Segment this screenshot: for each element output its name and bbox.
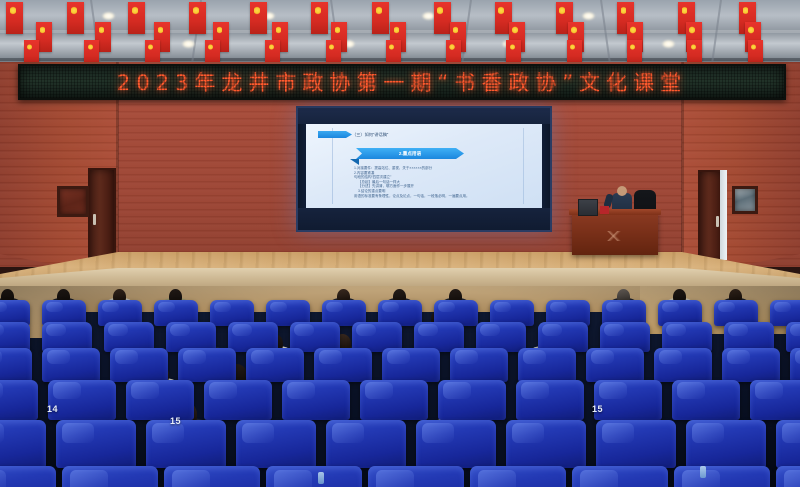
hanging-flag bbox=[372, 2, 389, 34]
audience-seat[interactable] bbox=[722, 348, 780, 382]
audience-seat[interactable] bbox=[146, 420, 226, 468]
ceiling-downlight-icon bbox=[182, 40, 195, 48]
audience-seat[interactable] bbox=[266, 466, 362, 487]
audience-seat[interactable] bbox=[314, 348, 372, 382]
water-bottle bbox=[700, 466, 706, 478]
door-handle-icon bbox=[716, 216, 719, 227]
audience-seat[interactable] bbox=[368, 466, 464, 487]
laptop-icon bbox=[578, 199, 598, 216]
audience-seat[interactable] bbox=[0, 466, 56, 487]
audience-seat[interactable] bbox=[750, 380, 800, 420]
audience-seat[interactable] bbox=[572, 466, 668, 487]
screen-bottom-bezel bbox=[298, 208, 550, 230]
ceiling-downlight-icon bbox=[582, 12, 595, 20]
wall-panel-left bbox=[57, 186, 89, 217]
hanging-flag bbox=[311, 2, 328, 34]
projection-screen: （三）如何“讲话稿” 2.重点用语 1.对接要件：提高站位、重视，关于×××××… bbox=[296, 106, 552, 232]
seat-row-number: 15 bbox=[170, 416, 181, 426]
audience-seat[interactable] bbox=[56, 420, 136, 468]
audience-seat[interactable] bbox=[674, 466, 770, 487]
audience-seat[interactable] bbox=[470, 466, 566, 487]
audience-seat[interactable] bbox=[326, 420, 406, 468]
audience-seat[interactable] bbox=[594, 380, 662, 420]
audience-seat[interactable] bbox=[450, 348, 508, 382]
door-light-gap bbox=[720, 170, 727, 260]
audience-seat[interactable] bbox=[790, 348, 800, 382]
audience-seat[interactable] bbox=[506, 420, 586, 468]
slide-header-arrow-icon bbox=[318, 131, 352, 138]
hanging-flag bbox=[434, 2, 451, 34]
audience-seat[interactable] bbox=[0, 348, 32, 382]
audience-seat[interactable] bbox=[516, 380, 584, 420]
wall-panel-right bbox=[732, 186, 758, 214]
audience-seat[interactable] bbox=[246, 348, 304, 382]
slide-banner-tail bbox=[350, 159, 359, 165]
audience-seat[interactable] bbox=[586, 348, 644, 382]
audience-seat[interactable] bbox=[126, 380, 194, 420]
door-handle-icon bbox=[93, 214, 96, 225]
slide-text-line: 用语的标准要有条理性，论点及论点，一句话，一段落必明，一遍要点用。 bbox=[354, 194, 516, 199]
stage-door-left[interactable] bbox=[88, 168, 116, 264]
slide-section-banner: 2.重点用语 bbox=[356, 148, 464, 159]
audience-seat[interactable] bbox=[438, 380, 506, 420]
slide-header-text: （三）如何“讲话稿” bbox=[352, 132, 388, 138]
audience-seat[interactable] bbox=[204, 380, 272, 420]
audience-seat[interactable] bbox=[518, 348, 576, 382]
ceiling-downlight-icon bbox=[662, 40, 675, 48]
screen-top-bezel bbox=[298, 108, 550, 124]
audience-seating-area: 141515 bbox=[0, 286, 800, 487]
auditorium-scene: （三）如何“讲话稿” 2.重点用语 1.对接要件：提高站位、重视，关于×××××… bbox=[0, 0, 800, 487]
audience-seat[interactable] bbox=[416, 420, 496, 468]
audience-seat[interactable] bbox=[0, 420, 46, 468]
audience-seat[interactable] bbox=[382, 348, 440, 382]
desk-red-item bbox=[600, 206, 609, 214]
slide-rule-right bbox=[523, 128, 524, 204]
led-banner: 2023年龙井市政协第一期“书香政协”文化课堂 bbox=[18, 64, 786, 100]
audience-seat[interactable] bbox=[596, 420, 676, 468]
seat-row-number: 15 bbox=[592, 404, 603, 414]
water-bottle bbox=[318, 472, 324, 484]
audience-seat[interactable] bbox=[776, 420, 800, 468]
presenter-desk bbox=[572, 213, 658, 255]
audience-seat[interactable] bbox=[360, 380, 428, 420]
audience-seat[interactable] bbox=[164, 466, 260, 487]
audience-seat[interactable] bbox=[282, 380, 350, 420]
hanging-flag bbox=[67, 2, 84, 34]
led-banner-text: 2023年龙井市政协第一期“书香政协”文化课堂 bbox=[117, 67, 687, 97]
hanging-flag bbox=[128, 2, 145, 34]
audience-seat[interactable] bbox=[48, 380, 116, 420]
audience-seat[interactable] bbox=[236, 420, 316, 468]
audience-seat[interactable] bbox=[686, 420, 766, 468]
seat-row-number: 14 bbox=[47, 404, 58, 414]
audience-seat[interactable] bbox=[0, 380, 38, 420]
desk-chevron-ornament bbox=[586, 231, 644, 241]
audience-seat[interactable] bbox=[42, 348, 100, 382]
ceiling-downlight-icon bbox=[102, 12, 115, 20]
audience-seat[interactable] bbox=[654, 348, 712, 382]
audience-seat[interactable] bbox=[776, 466, 800, 487]
audience-seat[interactable] bbox=[672, 380, 740, 420]
audience-seat[interactable] bbox=[110, 348, 168, 382]
hanging-flag bbox=[6, 2, 23, 34]
hanging-flag bbox=[250, 2, 267, 34]
audience-seat[interactable] bbox=[178, 348, 236, 382]
slide-rule-left bbox=[332, 128, 333, 204]
audience-seat[interactable] bbox=[62, 466, 158, 487]
slide-body-text: 1.对接要件：提高站位、重视，关于××××××的部分2.内容要紧凑句段的结构“四… bbox=[354, 166, 516, 198]
hanging-flag bbox=[189, 2, 206, 34]
presentation-slide: （三）如何“讲话稿” 2.重点用语 1.对接要件：提高站位、重视，关于×××××… bbox=[306, 124, 542, 208]
presenter-head bbox=[617, 186, 627, 196]
